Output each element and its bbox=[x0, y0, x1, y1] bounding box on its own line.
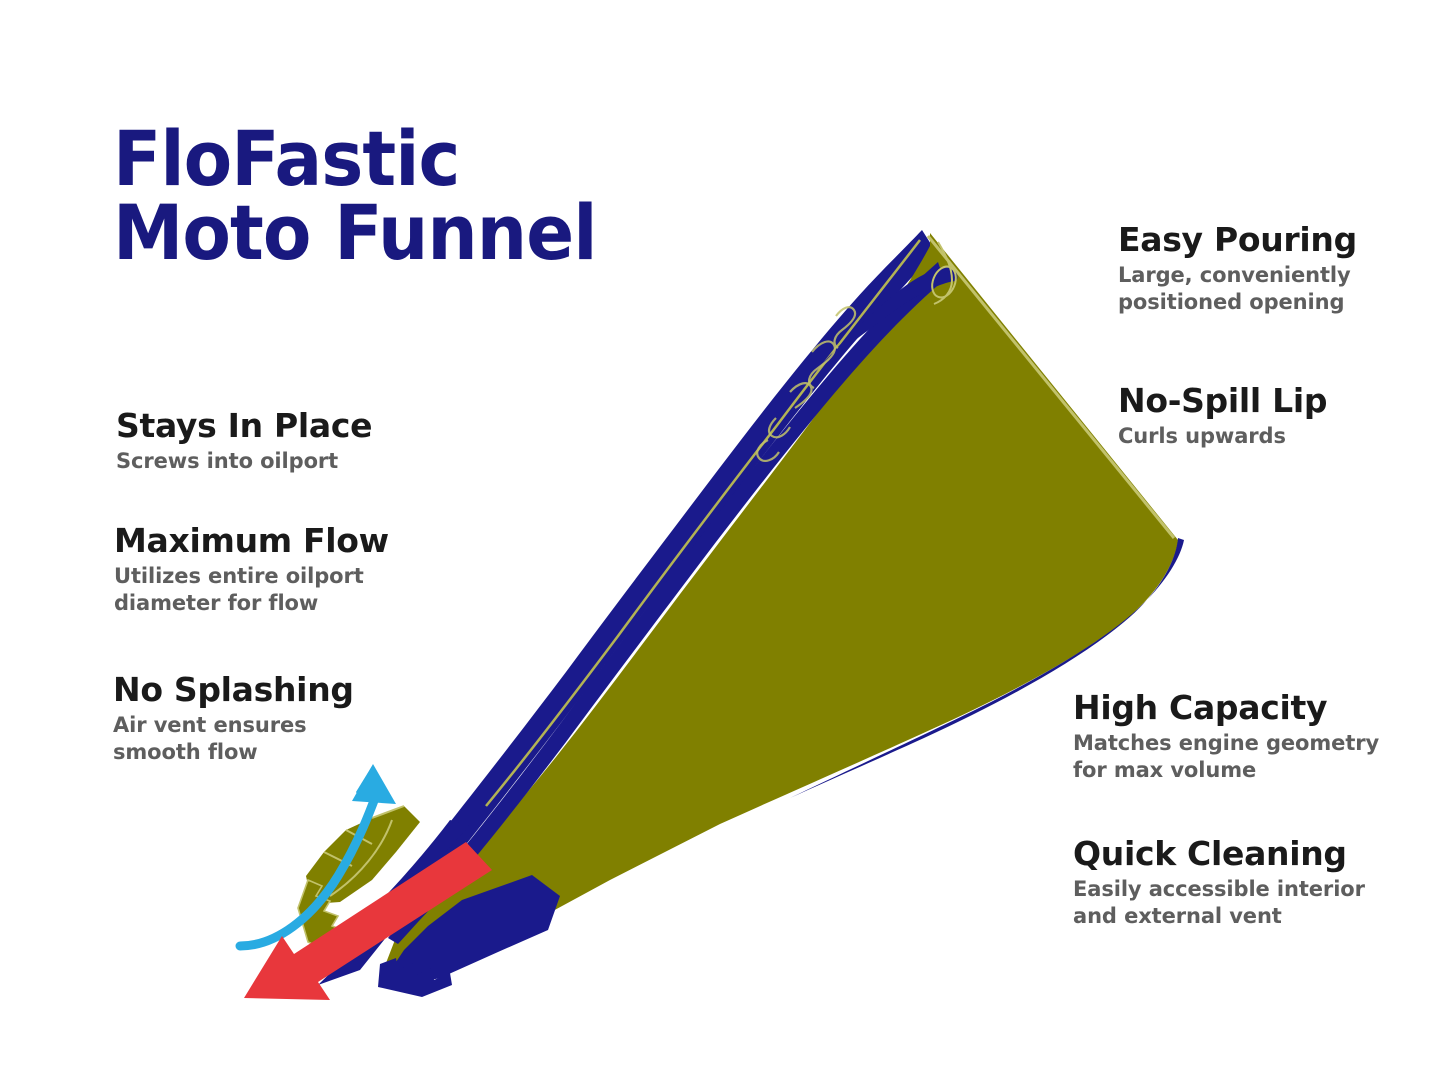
funnel-left-edge-highlight bbox=[486, 240, 920, 806]
feature-no-splashing: No Splashing Air vent ensures smooth flo… bbox=[113, 672, 473, 767]
no-spill-lip-curl bbox=[822, 266, 957, 364]
spout-collar-outline bbox=[312, 806, 404, 904]
title-line-1: FloFastic bbox=[113, 122, 745, 196]
feature-subtitle: Curls upwards bbox=[1118, 423, 1418, 450]
feature-subtitle: Utilizes entire oilport diameter for flo… bbox=[114, 563, 494, 618]
funnel-embossed-logo bbox=[757, 307, 855, 461]
spout-collar bbox=[306, 806, 420, 904]
feature-no-spill-lip: No-Spill Lip Curls upwards bbox=[1118, 383, 1418, 450]
infographic-canvas: FloFastic Moto Funnel Stays In Place Scr… bbox=[0, 0, 1445, 1084]
feature-subtitle-line-2: diameter for flow bbox=[114, 590, 494, 617]
feature-title: High Capacity bbox=[1073, 690, 1423, 727]
feature-subtitle: Large, conveniently positioned opening bbox=[1118, 262, 1418, 317]
feature-title: No Splashing bbox=[113, 672, 473, 709]
spout-underside-wedge bbox=[392, 875, 560, 986]
feature-maximum-flow: Maximum Flow Utilizes entire oilport dia… bbox=[114, 523, 494, 618]
feature-stays-in-place: Stays In Place Screws into oilport bbox=[116, 408, 496, 475]
feature-subtitle-line-1: Air vent ensures bbox=[113, 712, 473, 739]
air-vent-flow-arrow bbox=[240, 764, 396, 946]
feature-subtitle-line-2: for max volume bbox=[1073, 757, 1423, 784]
feature-title: Maximum Flow bbox=[114, 523, 494, 560]
spout-thread-lower bbox=[378, 958, 452, 997]
feature-subtitle: Easily accessible interior and external … bbox=[1073, 876, 1423, 931]
feature-subtitle-line-1: Easily accessible interior bbox=[1073, 876, 1423, 903]
spout-inner-wall bbox=[320, 820, 470, 952]
feature-title: Easy Pouring bbox=[1118, 222, 1418, 259]
feature-subtitle-line-1: Utilizes entire oilport bbox=[114, 563, 494, 590]
spout-collar-arc bbox=[330, 820, 392, 896]
feature-subtitle-line-2: smooth flow bbox=[113, 739, 473, 766]
feature-quick-cleaning: Quick Cleaning Easily accessible interio… bbox=[1073, 836, 1423, 931]
feature-subtitle: Screws into oilport bbox=[116, 448, 496, 475]
feature-high-capacity: High Capacity Matches engine geometry fo… bbox=[1073, 690, 1423, 785]
feature-easy-pouring: Easy Pouring Large, conveniently positio… bbox=[1118, 222, 1418, 317]
feature-subtitle: Matches engine geometry for max volume bbox=[1073, 730, 1423, 785]
feature-subtitle-line-1: Large, conveniently bbox=[1118, 262, 1418, 289]
feature-title: No-Spill Lip bbox=[1118, 383, 1418, 420]
feature-title: Quick Cleaning bbox=[1073, 836, 1423, 873]
oil-flow-arrow bbox=[244, 842, 492, 1000]
page-title: FloFastic Moto Funnel bbox=[113, 122, 793, 269]
feature-subtitle-line-2: positioned opening bbox=[1118, 289, 1418, 316]
funnel-body bbox=[386, 233, 1178, 975]
feature-subtitle-line-2: and external vent bbox=[1073, 903, 1423, 930]
threaded-spout-tip bbox=[298, 880, 354, 958]
lip-outline-highlight bbox=[934, 242, 952, 304]
feature-title: Stays In Place bbox=[116, 408, 496, 445]
title-line-2: Moto Funnel bbox=[113, 196, 745, 270]
feature-subtitle: Air vent ensures smooth flow bbox=[113, 712, 473, 767]
lip-opening-ellipse bbox=[928, 263, 960, 301]
feature-subtitle-line-1: Matches engine geometry bbox=[1073, 730, 1423, 757]
